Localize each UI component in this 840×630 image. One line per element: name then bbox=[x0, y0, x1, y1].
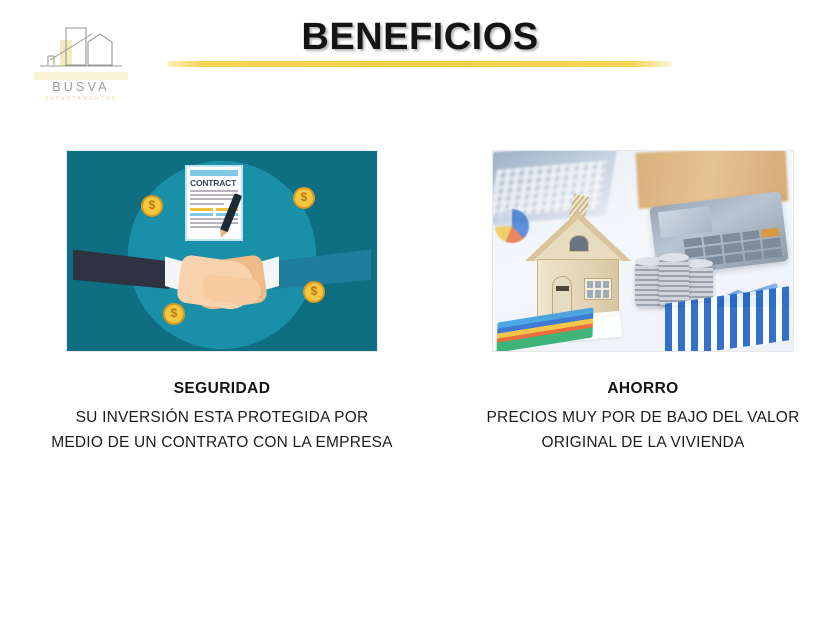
document-text-line bbox=[190, 203, 224, 205]
window-pane bbox=[587, 281, 594, 289]
calculator-key bbox=[762, 238, 780, 248]
coin-icon: $ bbox=[293, 187, 315, 209]
benefit-card-seguridad: CONTRACT bbox=[66, 150, 378, 455]
document-header-band bbox=[190, 170, 238, 176]
document-title: CONTRACT bbox=[190, 178, 238, 188]
house-attic-window bbox=[569, 235, 589, 252]
calculator-key bbox=[742, 230, 760, 240]
slide-header: BUSVA DEPARTAMENTOS BENEFICIOS bbox=[0, 0, 840, 120]
model-house-coins-calculator-photo bbox=[492, 150, 794, 352]
calculator-key bbox=[724, 243, 742, 253]
benefit-description: SU INVERSIÓN ESTA PROTEGIDA POR MEDIO DE… bbox=[48, 405, 396, 455]
logo-tagline: DEPARTAMENTOS bbox=[26, 96, 136, 102]
colorful-chart-paper bbox=[497, 307, 594, 352]
house-window bbox=[584, 278, 612, 300]
house-body bbox=[537, 259, 619, 317]
benefit-description: PRECIOS MUY POR DE BAJO DEL VALOR ORIGIN… bbox=[482, 405, 804, 455]
benefit-caption: SEGURIDAD SU INVERSIÓN ESTA PROTEGIDA PO… bbox=[48, 380, 396, 455]
window-pane bbox=[603, 281, 610, 289]
brand-logo: BUSVA DEPARTAMENTOS bbox=[26, 26, 136, 108]
window-pane bbox=[595, 290, 602, 298]
benefit-card-ahorro: AHORRO PRECIOS MUY POR DE BAJO DEL VALOR… bbox=[492, 150, 794, 455]
document-column bbox=[190, 208, 213, 218]
calculator-key bbox=[722, 232, 740, 242]
page-title: BENEFICIOS bbox=[170, 16, 670, 59]
calculator-key bbox=[743, 240, 761, 250]
calculator-key bbox=[744, 251, 762, 261]
document-chip bbox=[190, 213, 213, 216]
document-text-line bbox=[190, 226, 224, 228]
document-text-line bbox=[190, 190, 238, 192]
calculator-key bbox=[725, 253, 743, 263]
calculator-key bbox=[764, 248, 782, 258]
benefit-title: SEGURIDAD bbox=[48, 380, 396, 398]
calculator-screen bbox=[658, 206, 713, 238]
title-underline-rule bbox=[168, 61, 672, 67]
photo-background bbox=[493, 151, 793, 351]
coin-icon: $ bbox=[303, 281, 325, 303]
handshake-contract-illustration: CONTRACT bbox=[66, 150, 378, 352]
coin-icon: $ bbox=[141, 195, 163, 217]
window-pane bbox=[587, 290, 594, 298]
document-chip bbox=[190, 208, 213, 211]
benefit-title: AHORRO bbox=[482, 380, 804, 398]
coin-stack bbox=[659, 257, 689, 307]
buildings-outline-icon bbox=[26, 26, 136, 80]
coin-icon: $ bbox=[163, 303, 185, 325]
model-house-object bbox=[529, 211, 627, 319]
calculator-key bbox=[761, 228, 779, 238]
logo-name: BUSVA bbox=[26, 80, 136, 94]
window-pane bbox=[595, 281, 602, 289]
calculator-key bbox=[703, 235, 721, 245]
benefit-caption: AHORRO PRECIOS MUY POR DE BAJO DEL VALOR… bbox=[482, 380, 804, 455]
window-pane bbox=[603, 290, 610, 298]
pie-chart-paper bbox=[495, 209, 529, 243]
document-text-line bbox=[190, 194, 238, 196]
